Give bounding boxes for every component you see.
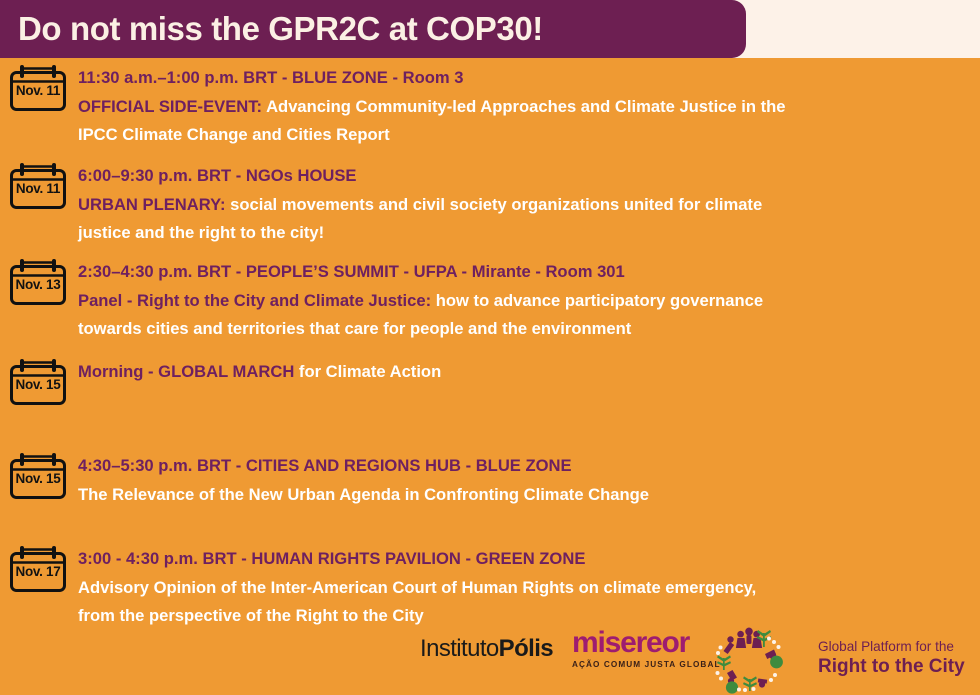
logo-global-platform-right-to-the-city: Global Platform for the Right to the Cit… [708, 621, 978, 695]
calendar-icon: Nov. 17 [8, 545, 68, 593]
calendar-icon: Nov. 11 [8, 64, 68, 112]
event-text-line: URBAN PLENARY: social movements and civi… [78, 191, 762, 220]
calendar-icon: Nov. 11 [8, 162, 68, 210]
event-body-text: Advancing Community-led Approaches and C… [266, 97, 785, 116]
event-text-line: 11:30 a.m.–1:00 p.m. BRT - BLUE ZONE - R… [78, 64, 786, 93]
event-item: Nov. 132:30–4:30 p.m. BRT - PEOPLE’S SUM… [0, 258, 763, 344]
event-highlight-text: Panel - Right to the City and Climate Ju… [78, 291, 436, 310]
event-body-text: Advisory Opinion of the Inter-American C… [78, 578, 756, 597]
event-highlight-text: 3:00 - 4:30 p.m. BRT - HUMAN RIGHTS PAVI… [78, 549, 585, 568]
calendar-icon: Nov. 13 [8, 258, 68, 306]
event-date-label: Nov. 15 [8, 471, 68, 486]
event-body-text: IPCC Climate Change and Cities Report [78, 125, 390, 144]
gprtc-wordmark: Global Platform for the Right to the Cit… [818, 639, 965, 679]
event-text-line: 6:00–9:30 p.m. BRT - NGOs HOUSE [78, 162, 762, 191]
gprtc-circle-mark-icon [708, 623, 794, 695]
event-body-text: how to advance participatory governance [436, 291, 763, 310]
event-item: Nov. 1111:30 a.m.–1:00 p.m. BRT - BLUE Z… [0, 64, 786, 150]
event-body-text: justice and the right to the city! [78, 223, 324, 242]
gprtc-line-2: Right to the City [818, 656, 965, 679]
event-highlight-text: OFFICIAL SIDE-EVENT: [78, 97, 266, 116]
event-body-text: towards cities and territories that care… [78, 319, 631, 338]
event-text-line: justice and the right to the city! [78, 219, 762, 248]
event-text-line: 3:00 - 4:30 p.m. BRT - HUMAN RIGHTS PAVI… [78, 545, 756, 574]
event-highlight-text: Morning - GLOBAL MARCH [78, 362, 299, 381]
title-banner: Do not miss the GPR2C at COP30! [0, 0, 746, 58]
event-date-label: Nov. 13 [8, 277, 68, 292]
footer-logos: InstitutoPólis misereor AÇÃO COMUM JUSTA… [0, 617, 980, 695]
event-text-line: Panel - Right to the City and Climate Ju… [78, 287, 763, 316]
event-text-line: Advisory Opinion of the Inter-American C… [78, 574, 756, 603]
event-description: 4:30–5:30 p.m. BRT - CITIES AND REGIONS … [78, 452, 649, 509]
event-body-text: social movements and civil society organ… [230, 195, 762, 214]
event-description: 11:30 a.m.–1:00 p.m. BRT - BLUE ZONE - R… [78, 64, 786, 150]
event-highlight-text: 2:30–4:30 p.m. BRT - PEOPLE’S SUMMIT - U… [78, 262, 625, 281]
event-text-line: 4:30–5:30 p.m. BRT - CITIES AND REGIONS … [78, 452, 649, 481]
event-item: Nov. 116:00–9:30 p.m. BRT - NGOs HOUSEUR… [0, 162, 762, 248]
event-highlight-text: 6:00–9:30 p.m. BRT - NGOs HOUSE [78, 166, 356, 185]
event-text-line: OFFICIAL SIDE-EVENT: Advancing Community… [78, 93, 786, 122]
event-text-line: IPCC Climate Change and Cities Report [78, 121, 786, 150]
page-title: Do not miss the GPR2C at COP30! [18, 10, 543, 48]
event-highlight-text: 11:30 a.m.–1:00 p.m. BRT - BLUE ZONE - R… [78, 68, 463, 87]
polis-light-text: Instituto [420, 635, 499, 662]
event-text-line: Morning - GLOBAL MARCH for Climate Actio… [78, 358, 441, 387]
event-highlight-text: URBAN PLENARY: [78, 195, 230, 214]
calendar-icon: Nov. 15 [8, 358, 68, 406]
event-description: 2:30–4:30 p.m. BRT - PEOPLE’S SUMMIT - U… [78, 258, 763, 344]
event-description: 6:00–9:30 p.m. BRT - NGOs HOUSEURBAN PLE… [78, 162, 762, 248]
event-date-label: Nov. 15 [8, 377, 68, 392]
event-text-line: towards cities and territories that care… [78, 315, 763, 344]
event-body-text: for Climate Action [299, 362, 441, 381]
poster-canvas: Do not miss the GPR2C at COP30! Nov. 111… [0, 0, 980, 695]
misereor-tagline: AÇÃO COMUM JUSTA GLOBAL [572, 660, 721, 669]
event-item: Nov. 15 Morning - GLOBAL MARCH for Clima… [0, 358, 441, 406]
logo-misereor: misereor AÇÃO COMUM JUSTA GLOBAL [572, 628, 721, 669]
event-highlight-text: 4:30–5:30 p.m. BRT - CITIES AND REGIONS … [78, 456, 572, 475]
event-date-label: Nov. 17 [8, 564, 68, 579]
event-date-label: Nov. 11 [8, 181, 68, 196]
logo-instituto-polis: InstitutoPólis [420, 635, 553, 663]
event-date-label: Nov. 11 [8, 83, 68, 98]
event-description: Morning - GLOBAL MARCH for Climate Actio… [78, 358, 441, 387]
calendar-icon: Nov. 15 [8, 452, 68, 500]
polis-bold-text: Pólis [499, 635, 553, 662]
misereor-wordmark: misereor [572, 628, 721, 658]
event-text-line: The Relevance of the New Urban Agenda in… [78, 481, 649, 510]
gprtc-line-1: Global Platform for the [818, 639, 965, 656]
event-item: Nov. 154:30–5:30 p.m. BRT - CITIES AND R… [0, 452, 649, 509]
event-text-line: 2:30–4:30 p.m. BRT - PEOPLE’S SUMMIT - U… [78, 258, 763, 287]
event-body-text: The Relevance of the New Urban Agenda in… [78, 485, 649, 504]
